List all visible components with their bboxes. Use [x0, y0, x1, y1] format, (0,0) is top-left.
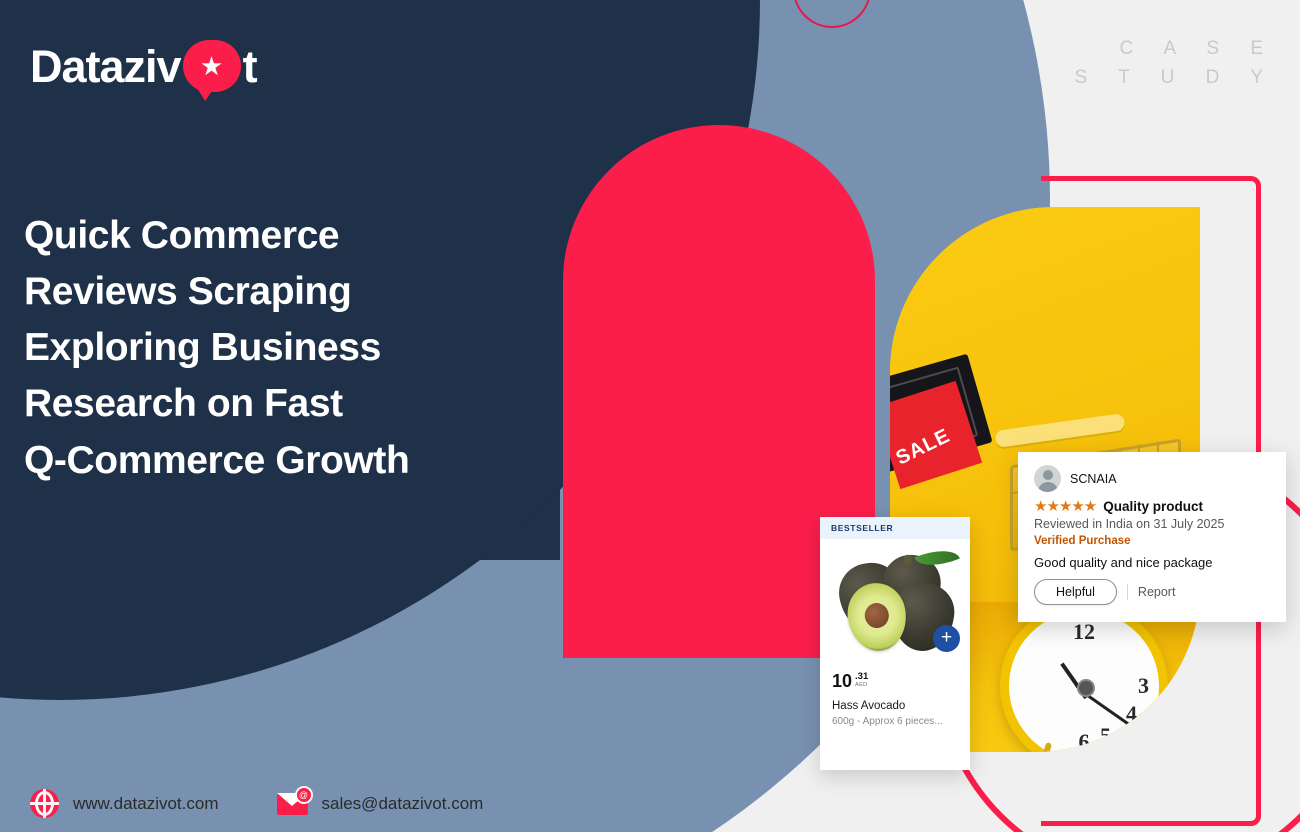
- email-item[interactable]: @ sales@datazivot.com: [277, 793, 484, 815]
- headline-line-4: Research on Fast: [24, 376, 584, 432]
- avocado-pit: [863, 601, 890, 629]
- page-title: Quick Commerce Reviews Scraping Explorin…: [24, 208, 584, 489]
- globe-icon: [30, 789, 59, 818]
- website-url[interactable]: www.datazivot.com: [73, 794, 219, 814]
- headline-line-2: Reviews Scraping: [24, 264, 584, 320]
- action-divider: [1127, 584, 1128, 600]
- price-whole: 10: [832, 672, 852, 690]
- review-actions: Helpful Report: [1034, 579, 1270, 605]
- verified-purchase-badge: Verified Purchase: [1034, 535, 1270, 547]
- review-body-text: Good quality and nice package: [1034, 555, 1270, 570]
- case-study-line-1: C A S E: [1075, 34, 1276, 63]
- brand-logo[interactable]: Dataziv ★ t: [30, 40, 257, 92]
- footer-contact-bar: www.datazivot.com @ sales@datazivot.com: [30, 789, 483, 818]
- amazon-review-card: SCNAIA ★★★★★ Quality product Reviewed in…: [1018, 452, 1286, 622]
- headline-line-3: Exploring Business: [24, 320, 584, 376]
- clock-number-12: 12: [1073, 619, 1095, 645]
- speech-bubble-icon: ★: [183, 40, 241, 92]
- email-at-badge: @: [295, 786, 313, 804]
- clock-center-pin: [1077, 679, 1095, 697]
- headline-line-5: Q-Commerce Growth: [24, 433, 584, 489]
- bestseller-badge: BESTSELLER: [820, 517, 970, 539]
- review-title: Quality product: [1103, 499, 1203, 514]
- star-icon: ★: [200, 53, 223, 79]
- report-link[interactable]: Report: [1138, 585, 1176, 599]
- add-to-cart-button[interactable]: +: [933, 625, 960, 652]
- case-study-line-2: S T U D Y: [1075, 63, 1276, 92]
- product-subtitle: 600g - Approx 6 pieces...: [832, 716, 943, 727]
- clock-number-6: 6: [1079, 729, 1090, 752]
- email-icon: @: [277, 793, 308, 815]
- logo-text-last: t: [243, 44, 257, 89]
- star-rating-icon[interactable]: ★★★★★: [1034, 499, 1096, 514]
- product-price: 10 .31 AED: [832, 672, 868, 690]
- review-rating-row: ★★★★★ Quality product: [1034, 499, 1270, 514]
- product-name: Hass Avocado: [832, 700, 905, 712]
- price-cents: .31: [855, 672, 868, 682]
- logo-text-first: Dataziv: [30, 44, 181, 89]
- user-avatar-icon: [1034, 465, 1061, 492]
- review-username: SCNAIA: [1070, 472, 1117, 486]
- review-meta: Reviewed in India on 31 July 2025: [1034, 517, 1270, 531]
- product-card[interactable]: BESTSELLER + 10 .31 AED Hass Avocado 600…: [820, 517, 970, 770]
- review-header: SCNAIA: [1034, 465, 1270, 492]
- helpful-button[interactable]: Helpful: [1034, 579, 1117, 605]
- case-study-poster: 12 3 4 5 6 SCNAIA ★★★★★ Quality product …: [0, 0, 1300, 832]
- price-currency: AED: [855, 683, 868, 689]
- clock-number-3: 3: [1138, 673, 1149, 699]
- case-study-label: C A S E S T U D Y: [1075, 34, 1276, 93]
- website-item[interactable]: www.datazivot.com: [30, 789, 219, 818]
- headline-line-1: Quick Commerce: [24, 208, 584, 264]
- clock-number-5: 5: [1100, 723, 1111, 749]
- email-address[interactable]: sales@datazivot.com: [322, 794, 484, 814]
